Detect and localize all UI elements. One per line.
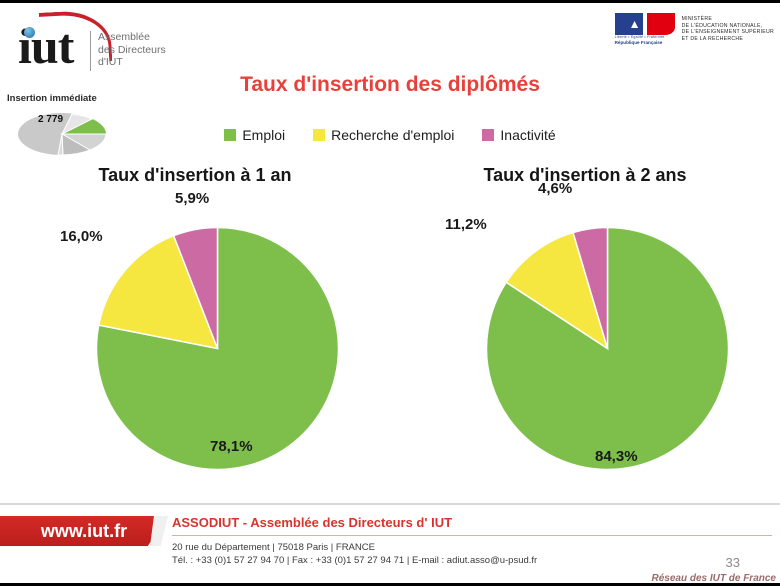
legend-item-recherche-emploi: Recherche d'emploi — [313, 127, 454, 143]
footer-org-name: ASSODIUT - Assemblée des Directeurs d' I… — [172, 515, 452, 530]
iut-logo: iut Assemblée des Directeurs d'IUT — [10, 9, 190, 77]
legend-swatch-recherche-emploi — [313, 129, 325, 141]
footer-address: 20 rue du Département | 75018 Paris | FR… — [172, 541, 537, 554]
footer-network: Réseau des IUT de France — [652, 573, 777, 584]
chart-1-pie — [95, 226, 340, 471]
legend-item-emploi: Emploi — [224, 127, 285, 143]
mini-chart-value: 2 779 — [38, 114, 63, 125]
legend-swatch-inactivite — [482, 129, 494, 141]
footer-contact: Tél. : +33 (0)1 57 27 94 70 | Fax : +33 … — [172, 554, 537, 567]
chart-2-label-emploi: 84,3% — [595, 448, 638, 465]
legend-swatch-emploi — [224, 129, 236, 141]
ministry-republic: République Française — [615, 40, 663, 45]
page-number: 33 — [726, 555, 740, 570]
flag-red-panel — [647, 13, 675, 35]
chart-2-pie-area: 4,6% 11,2% 84,3% — [390, 186, 780, 476]
chart-2-label-inactivite: 4,6% — [538, 180, 572, 197]
chart-2-ans: Taux d'insertion à 2 ans 4,6% 11,2% 84,3… — [390, 165, 780, 495]
ministry-logo: ▲ Liberté • Égalité • Fraternité Républi… — [615, 13, 774, 47]
logo-subtitle-line1: Assemblée — [98, 31, 166, 44]
ministry-motto: Liberté • Égalité • Fraternité — [615, 35, 665, 39]
footer-divider — [0, 503, 780, 505]
chart-1-label-inactivite: 5,9% — [175, 190, 209, 207]
logo-subtitle-line3: d'IUT — [98, 56, 166, 69]
ministry-text: MINISTÈRE DE L'ÉDUCATION NATIONALE, DE L… — [682, 13, 774, 42]
footer-address-block: 20 rue du Département | 75018 Paris | FR… — [172, 541, 537, 567]
chart-1-label-recherche: 16,0% — [60, 228, 103, 245]
chart-2-title: Taux d'insertion à 2 ans — [390, 165, 780, 186]
chart-1-title: Taux d'insertion à 1 an — [0, 165, 390, 186]
marianne-icon: ▲ — [629, 17, 645, 32]
legend-label-inactivite: Inactivité — [500, 127, 555, 143]
chart-2-label-recherche: 11,2% — [445, 216, 487, 233]
chart-legend: Emploi Recherche d'emploi Inactivité — [0, 127, 780, 143]
chart-1-pie-area: 5,9% 16,0% 78,1% — [0, 186, 390, 476]
logo-divider — [90, 31, 91, 71]
slide: iut Assemblée des Directeurs d'IUT Inser… — [0, 0, 780, 586]
chart-2-pie — [485, 226, 730, 471]
page-title: Taux d'insertion des diplômés — [0, 73, 780, 97]
legend-label-emploi: Emploi — [242, 127, 285, 143]
legend-item-inactivite: Inactivité — [482, 127, 555, 143]
footer: www.iut.fr ASSODIUT - Assemblée des Dire… — [0, 503, 780, 586]
footer-accent-rule — [172, 535, 772, 536]
footer-url[interactable]: www.iut.fr — [0, 516, 168, 546]
ministry-line-1: MINISTÈRE — [682, 16, 774, 23]
legend-label-recherche-emploi: Recherche d'emploi — [331, 127, 454, 143]
logo-subtitle-line2: des Directeurs — [98, 44, 166, 57]
french-flag-icon: ▲ Liberté • Égalité • Fraternité Républi… — [615, 13, 677, 47]
chart-1-an: Taux d'insertion à 1 an 5,9% 16,0% 78,1% — [0, 165, 390, 495]
logo-subtitle: Assemblée des Directeurs d'IUT — [98, 31, 166, 69]
ministry-line-3: DE L'ENSEIGNEMENT SUPÉRIEUR — [682, 29, 774, 36]
chart-1-label-emploi: 78,1% — [210, 438, 253, 455]
ministry-line-4: ET DE LA RECHERCHE — [682, 36, 774, 43]
logo-dot-icon — [24, 27, 35, 38]
